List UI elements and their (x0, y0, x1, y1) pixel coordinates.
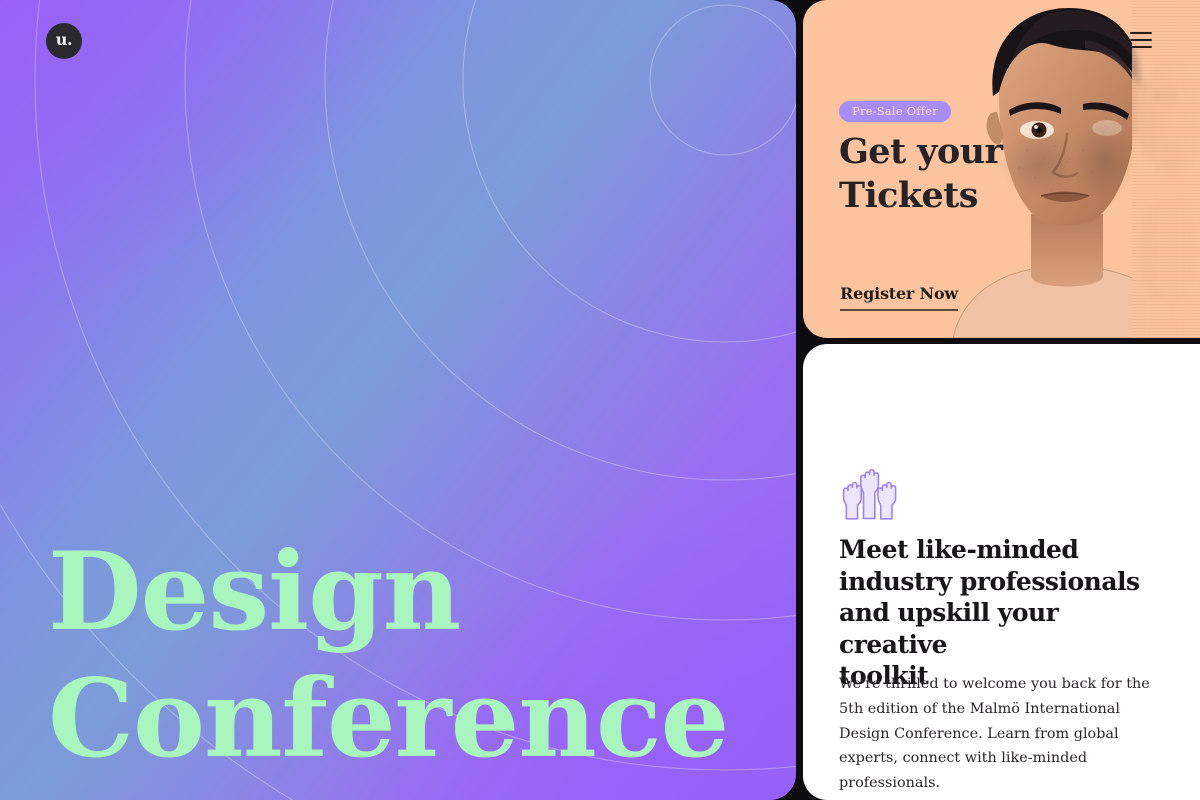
info-heading: Meet like-minded industry professionals … (839, 534, 1165, 692)
register-now-link[interactable]: Register Now (840, 284, 958, 311)
page-root: u. Design Conference (0, 0, 1200, 800)
hero-panel: u. Design Conference (0, 0, 796, 800)
page-title: Design Conference (48, 529, 748, 782)
tickets-card: Pre-Sale Offer Get your Tickets Register… (803, 0, 1200, 338)
status-badge: Pre-Sale Offer (839, 101, 951, 122)
right-column: Pre-Sale Offer Get your Tickets Register… (803, 0, 1200, 800)
page-title-line-1: Design (48, 529, 460, 655)
brand-logo[interactable]: u. (46, 23, 82, 59)
info-card: Meet like-minded industry professionals … (803, 344, 1200, 800)
info-heading-line-3: and upskill your creative (839, 597, 1165, 660)
info-body-text: We're thrilled to welcome you back for t… (839, 672, 1159, 796)
tickets-heading-line-1: Get your (839, 131, 1002, 172)
info-heading-line-1: Meet like-minded (839, 534, 1165, 566)
tickets-heading: Get your Tickets (839, 130, 1069, 218)
portrait-fade-strip (1132, 0, 1200, 338)
info-heading-line-2: industry professionals (839, 566, 1165, 598)
tickets-heading-line-2: Tickets (839, 174, 1069, 218)
page-title-line-2: Conference (48, 656, 748, 782)
raised-hands-icon (839, 464, 901, 520)
hamburger-menu-icon[interactable] (1130, 32, 1152, 48)
brand-logo-text: u. (56, 32, 73, 48)
